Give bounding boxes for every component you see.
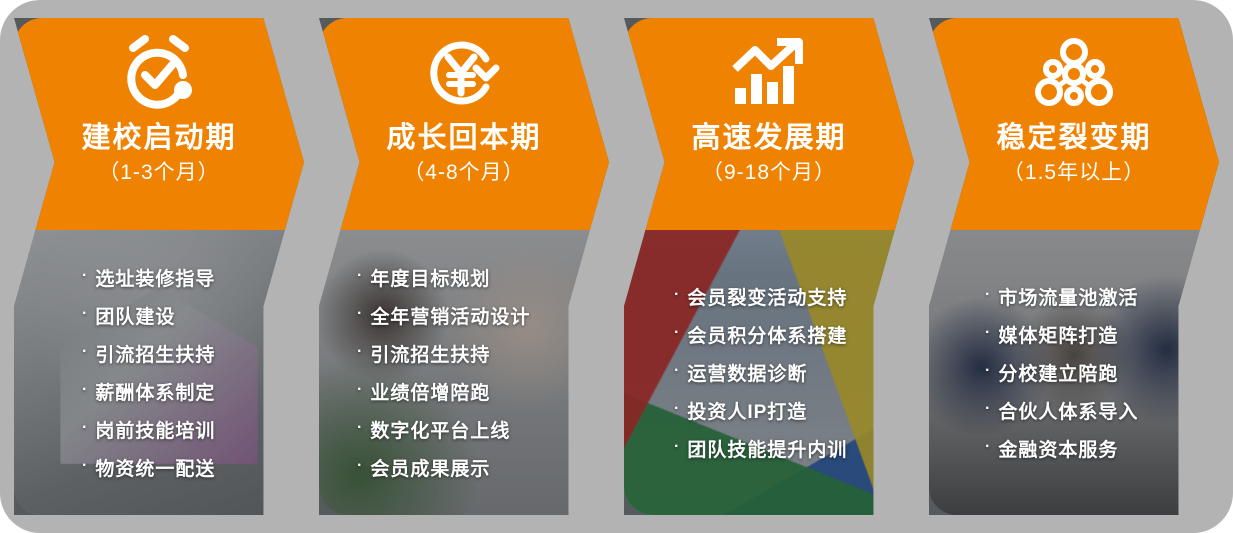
stage-card-1-header: 建校启动期 （1-3个月）: [14, 18, 304, 230]
list-item-label: 市场流量池激活: [998, 283, 1138, 310]
bullet-icon: ·: [985, 325, 991, 341]
stage-card-1-inner: 建校启动期 （1-3个月） ·选址装修指导 ·团队建设 ·引流招生扶持 ·薪酬体…: [14, 18, 304, 515]
bullet-icon: ·: [674, 363, 680, 379]
alarm-clock-check-icon: [111, 34, 207, 112]
list-item-label: 选址装修指导: [95, 264, 215, 291]
bullet-icon: ·: [674, 401, 680, 417]
growth-stages-infographic: 建校启动期 （1-3个月） ·选址装修指导 ·团队建设 ·引流招生扶持 ·薪酬体…: [0, 0, 1233, 533]
list-item: ·引流招生扶持: [82, 340, 215, 367]
list-item-label: 会员成果展示: [370, 454, 490, 481]
bullet-icon: ·: [357, 420, 363, 436]
list-item: ·数字化平台上线: [357, 416, 510, 443]
bullet-icon: ·: [82, 268, 88, 284]
stage-card-2[interactable]: 成长回本期 （4-8个月） ·年度目标规划 ·全年营销活动设计 ·引流招生扶持 …: [319, 18, 609, 515]
stage-title: 稳定裂变期: [996, 122, 1151, 155]
bullet-icon: ·: [82, 344, 88, 360]
list-item: ·岗前技能培训: [82, 416, 215, 443]
list-item-label: 数字化平台上线: [370, 416, 510, 443]
list-item-label: 团队技能提升内训: [687, 435, 847, 462]
bullet-icon: ·: [82, 458, 88, 474]
growth-bar-chart-icon: [721, 34, 817, 112]
bullet-icon: ·: [82, 382, 88, 398]
list-item-label: 会员积分体系搭建: [687, 321, 847, 348]
list-item: ·会员成果展示: [357, 454, 490, 481]
list-item: ·合伙人体系导入: [985, 397, 1138, 424]
stage-3-feature-list: ·会员裂变活动支持 ·会员积分体系搭建 ·运营数据诊断 ·投资人IP打造 ·团队…: [624, 230, 914, 515]
stage-card-4-header: 稳定裂变期 （1.5年以上）: [929, 18, 1219, 230]
list-item-label: 引流招生扶持: [370, 340, 490, 367]
bullet-icon: ·: [985, 363, 991, 379]
list-item: ·市场流量池激活: [985, 283, 1138, 310]
list-item-label: 金融资本服务: [998, 435, 1118, 462]
list-item-label: 引流招生扶持: [95, 340, 215, 367]
stage-4-feature-list: ·市场流量池激活 ·媒体矩阵打造 ·分校建立陪跑 ·合伙人体系导入 ·金融资本服…: [929, 230, 1219, 515]
bullet-icon: ·: [357, 458, 363, 474]
list-item: ·金融资本服务: [985, 435, 1118, 462]
list-item-label: 投资人IP打造: [687, 397, 807, 424]
stage-card-1-body: ·选址装修指导 ·团队建设 ·引流招生扶持 ·薪酬体系制定 ·岗前技能培训 ·物…: [14, 230, 304, 515]
list-item: ·引流招生扶持: [357, 340, 490, 367]
stage-period: （4-8个月）: [403, 159, 524, 186]
list-item: ·全年营销活动设计: [357, 302, 530, 329]
list-item: ·选址装修指导: [82, 264, 215, 291]
bullet-icon: ·: [985, 287, 991, 303]
list-item: ·团队建设: [82, 302, 175, 329]
stage-card-2-body: ·年度目标规划 ·全年营销活动设计 ·引流招生扶持 ·业绩倍增陪跑 ·数字化平台…: [319, 230, 609, 515]
bullet-icon: ·: [82, 420, 88, 436]
stage-card-2-inner: 成长回本期 （4-8个月） ·年度目标规划 ·全年营销活动设计 ·引流招生扶持 …: [319, 18, 609, 515]
bullet-icon: ·: [674, 287, 680, 303]
list-item: ·会员积分体系搭建: [674, 321, 847, 348]
bullet-icon: ·: [357, 382, 363, 398]
stage-period: （1-3个月）: [98, 159, 219, 186]
stage-card-4[interactable]: 稳定裂变期 （1.5年以上） ·市场流量池激活 ·媒体矩阵打造 ·分校建立陪跑 …: [929, 18, 1219, 515]
list-item-label: 分校建立陪跑: [998, 359, 1118, 386]
network-nodes-icon: [1026, 34, 1122, 112]
list-item: ·会员裂变活动支持: [674, 283, 847, 310]
stage-period: （1.5年以上）: [1003, 159, 1145, 186]
list-item-label: 媒体矩阵打造: [998, 321, 1118, 348]
stage-2-feature-list: ·年度目标规划 ·全年营销活动设计 ·引流招生扶持 ·业绩倍增陪跑 ·数字化平台…: [319, 230, 609, 515]
stage-card-3-body: ·会员裂变活动支持 ·会员积分体系搭建 ·运营数据诊断 ·投资人IP打造 ·团队…: [624, 230, 914, 515]
list-item: ·媒体矩阵打造: [985, 321, 1118, 348]
list-item-label: 物资统一配送: [95, 454, 215, 481]
list-item-label: 会员裂变活动支持: [687, 283, 847, 310]
bullet-icon: ·: [674, 325, 680, 341]
list-item-label: 年度目标规划: [370, 264, 490, 291]
stage-title: 建校启动期: [81, 122, 236, 155]
stage-card-3[interactable]: 高速发展期 （9-18个月） ·会员裂变活动支持 ·会员积分体系搭建 ·运营数据…: [624, 18, 914, 515]
bullet-icon: ·: [357, 268, 363, 284]
list-item-label: 运营数据诊断: [687, 359, 807, 386]
list-item-label: 岗前技能培训: [95, 416, 215, 443]
stage-period: （9-18个月）: [702, 159, 836, 186]
bullet-icon: ·: [985, 439, 991, 455]
list-item-label: 合伙人体系导入: [998, 397, 1138, 424]
list-item: ·投资人IP打造: [674, 397, 807, 424]
list-item: ·运营数据诊断: [674, 359, 807, 386]
stage-card-1[interactable]: 建校启动期 （1-3个月） ·选址装修指导 ·团队建设 ·引流招生扶持 ·薪酬体…: [14, 18, 304, 515]
stage-card-3-header: 高速发展期 （9-18个月）: [624, 18, 914, 230]
stage-card-3-inner: 高速发展期 （9-18个月） ·会员裂变活动支持 ·会员积分体系搭建 ·运营数据…: [624, 18, 914, 515]
list-item: ·团队技能提升内训: [674, 435, 847, 462]
bullet-icon: ·: [985, 401, 991, 417]
yen-refresh-icon: [416, 34, 512, 112]
bullet-icon: ·: [357, 344, 363, 360]
stage-card-2-header: 成长回本期 （4-8个月）: [319, 18, 609, 230]
stage-title: 成长回本期: [386, 122, 541, 155]
stage-title: 高速发展期: [691, 122, 846, 155]
list-item: ·分校建立陪跑: [985, 359, 1118, 386]
list-item: ·年度目标规划: [357, 264, 490, 291]
list-item: ·业绩倍增陪跑: [357, 378, 490, 405]
bullet-icon: ·: [82, 306, 88, 322]
stage-1-feature-list: ·选址装修指导 ·团队建设 ·引流招生扶持 ·薪酬体系制定 ·岗前技能培训 ·物…: [14, 230, 304, 515]
list-item-label: 团队建设: [95, 302, 175, 329]
list-item-label: 薪酬体系制定: [95, 378, 215, 405]
stage-card-4-inner: 稳定裂变期 （1.5年以上） ·市场流量池激活 ·媒体矩阵打造 ·分校建立陪跑 …: [929, 18, 1219, 515]
list-item-label: 业绩倍增陪跑: [370, 378, 490, 405]
bullet-icon: ·: [357, 306, 363, 322]
list-item: ·物资统一配送: [82, 454, 215, 481]
bullet-icon: ·: [674, 439, 680, 455]
stage-card-4-body: ·市场流量池激活 ·媒体矩阵打造 ·分校建立陪跑 ·合伙人体系导入 ·金融资本服…: [929, 230, 1219, 515]
list-item-label: 全年营销活动设计: [370, 302, 530, 329]
list-item: ·薪酬体系制定: [82, 378, 215, 405]
